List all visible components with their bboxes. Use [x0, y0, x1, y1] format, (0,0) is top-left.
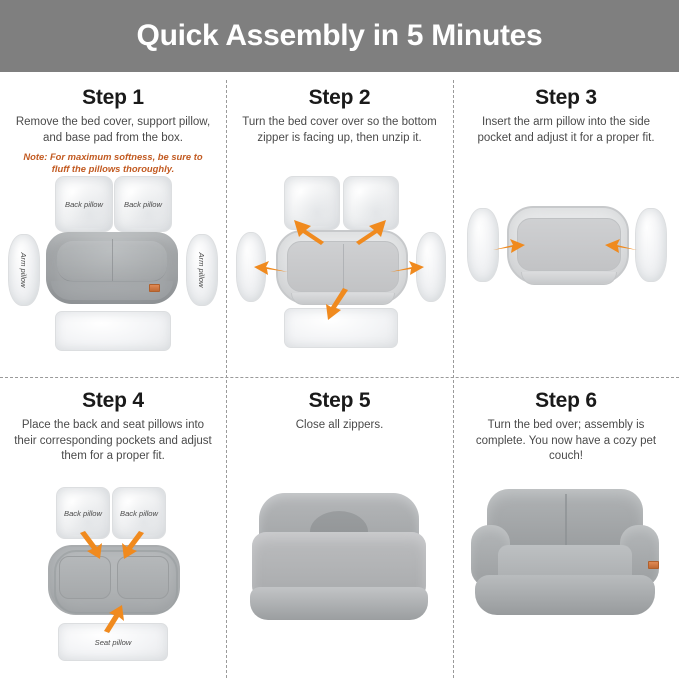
step-2-description: Turn the bed cover over so the bottom zi… [237, 115, 442, 146]
brand-tag [149, 284, 160, 292]
couch-backrest-split [565, 494, 567, 546]
pocket-left [59, 556, 111, 599]
step-2-title: Step 2 [226, 86, 453, 109]
step-2-text: Step 2 Turn the bed cover over so the bo… [226, 72, 453, 146]
brand-tag [648, 561, 659, 569]
base-pad [55, 311, 171, 351]
step-cell-6: Step 6 Turn the bed over; assembly is co… [453, 375, 679, 678]
bed-cover-gray [46, 232, 178, 304]
step-5-text: Step 5 Close all zippers. [226, 375, 453, 434]
cover-bottom-skirt [521, 272, 617, 285]
step-6-text: Step 6 Turn the bed over; assembly is co… [453, 375, 679, 465]
back-pillow-right-label: Back pillow [113, 488, 165, 538]
step-3-title: Step 3 [453, 86, 679, 109]
step-5-description: Close all zippers. [237, 418, 442, 434]
arm-pillow-right: Arm pillow [186, 234, 218, 306]
step-3-description: Insert the arm pillow into the side pock… [464, 115, 669, 146]
couch-base [475, 575, 655, 614]
back-pillow-left: Back pillow [56, 487, 110, 539]
step-5-illustration [226, 483, 453, 643]
step-5-title: Step 5 [226, 389, 453, 412]
step-1-text: Step 1 Remove the bed cover, support pil… [0, 72, 226, 176]
assembled-bed [248, 493, 430, 623]
step-1-description: Remove the bed cover, support pillow, an… [11, 115, 216, 146]
arm-pillow-left: Arm pillow [8, 234, 40, 306]
step-cell-3: Step 3 Insert the arm pillow into the si… [453, 72, 679, 375]
back-pillow-right: Back pillow [114, 176, 172, 232]
step-cell-2: Step 2 Turn the bed cover over so the bo… [226, 72, 453, 375]
finished-pet-couch [467, 483, 663, 623]
step-1-illustration: Back pillow Back pillow Arm pillow Arm p… [0, 174, 226, 354]
step-2-illustration [226, 174, 453, 354]
bed-base [250, 587, 428, 621]
cover-center-seam [343, 244, 344, 289]
step-6-illustration [453, 479, 679, 644]
step-4-text: Step 4 Place the back and seat pillows i… [0, 375, 226, 465]
step-1-title: Step 1 [0, 86, 226, 109]
back-pillow-left-label: Back pillow [56, 177, 112, 231]
step-3-text: Step 3 Insert the arm pillow into the si… [453, 72, 679, 146]
step-4-description: Place the back and seat pillows into the… [11, 418, 216, 465]
pocket-right [117, 556, 169, 599]
step-3-illustration [453, 190, 679, 330]
step-cell-5: Step 5 Close all zippers. [226, 375, 453, 678]
header-banner: Quick Assembly in 5 Minutes [0, 0, 679, 72]
step-cell-1: Step 1 Remove the bed cover, support pil… [0, 72, 226, 375]
cover-inner-panel [287, 241, 399, 292]
step-4-illustration: Back pillow Back pillow Seat pillow [0, 487, 226, 662]
step-6-title: Step 6 [453, 389, 679, 412]
back-pillow-left: Back pillow [55, 176, 113, 232]
step-1-note: Note: For maximum softness, be sure to f… [15, 151, 211, 175]
cover-center-seam [112, 239, 113, 281]
page-title: Quick Assembly in 5 Minutes [137, 21, 543, 51]
arm-pillow-right [635, 208, 667, 282]
step-4-title: Step 4 [0, 389, 226, 412]
infographic-page: Quick Assembly in 5 Minutes Step 1 Remov… [0, 0, 679, 678]
step-6-description: Turn the bed over; assembly is complete.… [464, 418, 669, 465]
back-pillow-right-label: Back pillow [115, 177, 171, 231]
steps-grid: Step 1 Remove the bed cover, support pil… [0, 72, 679, 678]
back-pillow-left-label: Back pillow [57, 488, 109, 538]
step-cell-4: Step 4 Place the back and seat pillows i… [0, 375, 226, 678]
